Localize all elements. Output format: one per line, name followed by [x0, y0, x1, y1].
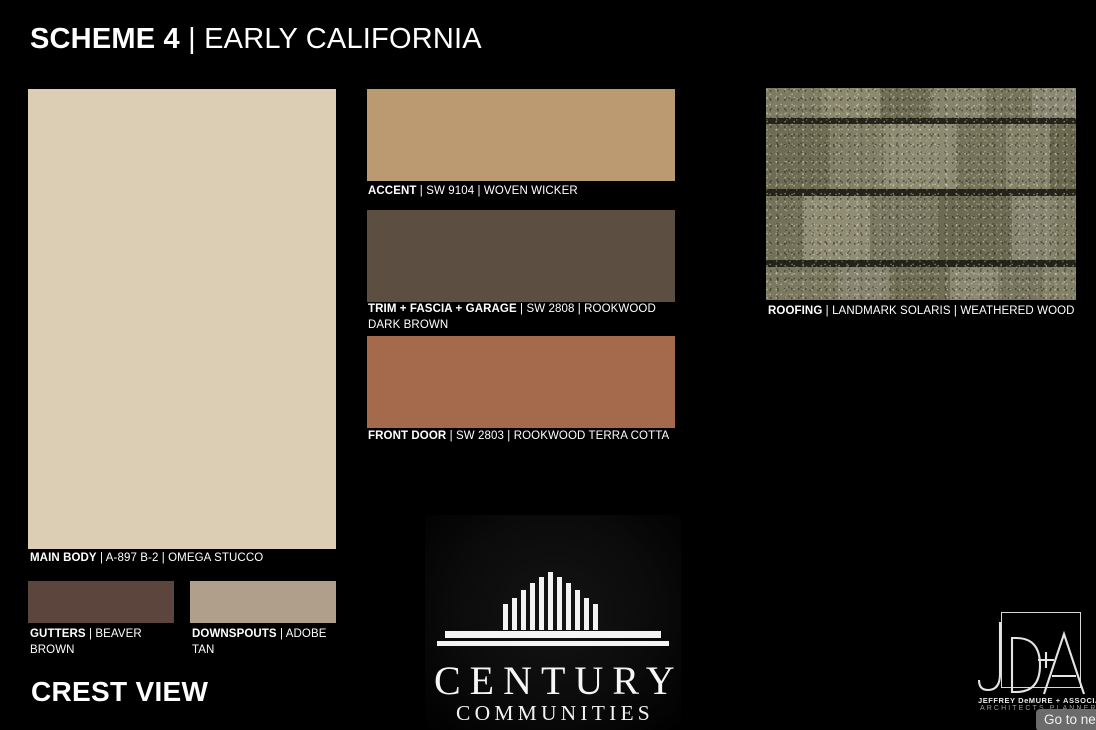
- roof-tab: [998, 267, 1042, 300]
- architect-logo: JEFFREY DeMURE + ASSOCIATES ARCHITECTS P…: [978, 612, 1090, 717]
- roof-tab: [1042, 267, 1076, 300]
- caption-trim-fascia-garage: TRIM + FASCIA + GARAGE | SW 2808 | ROOKW…: [368, 302, 674, 333]
- roof-tab: [890, 267, 950, 300]
- title-separator: |: [180, 23, 204, 55]
- swatch-gutters: [28, 581, 174, 623]
- caption-front-door-rest: | SW 2803 | ROOKWOOD TERRA COTTA: [446, 430, 669, 442]
- caption-main-body-name: MAIN BODY: [30, 552, 97, 564]
- caption-front-door: FRONT DOOR | SW 2803 | ROOKWOOD TERRA CO…: [368, 429, 698, 445]
- architect-logo-line1: JEFFREY DeMURE + ASSOCIATES: [978, 696, 1090, 705]
- roof-tab: [938, 196, 1012, 264]
- caption-roofing-rest: | LANDMARK SOLARIS | WEATHERED WOOD: [822, 305, 1074, 317]
- swatch-main-body: [28, 89, 336, 549]
- caption-gutters-name: GUTTERS: [30, 628, 86, 640]
- roof-tab: [804, 196, 870, 264]
- roof-tab: [830, 124, 884, 192]
- swatch-front-door: [367, 336, 675, 428]
- roof-tab: [766, 124, 830, 192]
- go-to-next-page-tooltip[interactable]: Go to ne: [1036, 709, 1096, 730]
- roof-tab: [1006, 124, 1050, 192]
- roof-course: [766, 267, 1076, 300]
- caption-accent-name: ACCENT: [368, 185, 417, 197]
- scheme-number-label: SCHEME 4: [30, 23, 180, 55]
- builder-logo-subtitle: COMMUNITIES: [425, 701, 681, 726]
- color-scheme-board: SCHEME 4 | EARLY CALIFORNIA MAIN BODY | …: [0, 0, 1096, 730]
- roof-tab: [870, 196, 938, 264]
- roof-tab: [766, 267, 838, 300]
- roof-course: [766, 196, 1076, 264]
- roof-tab: [880, 88, 930, 120]
- builder-logo-wordmark: CENTURY: [425, 657, 681, 704]
- swatch-trim-fascia-garage: [367, 210, 675, 302]
- roof-tab: [822, 88, 880, 120]
- roof-tab: [766, 196, 804, 264]
- caption-downspouts: DOWNSPOUTS | ADOBE TAN: [192, 627, 342, 658]
- roof-course: [766, 88, 1076, 120]
- swatch-downspouts: [190, 581, 336, 623]
- swatch-roofing-photo: [766, 88, 1076, 300]
- caption-main-body: MAIN BODY | A-897 B-2 | OMEGA STUCCO: [30, 551, 360, 567]
- roof-tab: [930, 88, 986, 120]
- builder-logo: CENTURY COMMUNITIES: [425, 515, 681, 730]
- scheme-name-label: EARLY CALIFORNIA: [204, 23, 482, 55]
- roof-tab: [956, 124, 1006, 192]
- roof-tab: [884, 124, 956, 192]
- plan-name-label: CREST VIEW: [31, 676, 208, 708]
- caption-accent: ACCENT | SW 9104 | WOVEN WICKER: [368, 184, 698, 200]
- roof-tab: [1032, 88, 1076, 120]
- roof-tab: [986, 88, 1032, 120]
- roof-tab: [1012, 196, 1054, 264]
- roof-tab: [838, 267, 890, 300]
- caption-roofing: ROOFING | LANDMARK SOLARIS | WEATHERED W…: [768, 304, 1088, 320]
- caption-main-body-rest: | A-897 B-2 | OMEGA STUCCO: [97, 552, 264, 564]
- caption-gutters: GUTTERS | BEAVER BROWN: [30, 627, 180, 658]
- building-spire-icon: [425, 570, 681, 652]
- roof-tab: [766, 88, 822, 120]
- caption-trim-name: TRIM + FASCIA + GARAGE: [368, 303, 517, 315]
- caption-accent-rest: | SW 9104 | WOVEN WICKER: [417, 185, 578, 197]
- swatch-accent: [367, 89, 675, 181]
- roof-tab: [1054, 196, 1076, 264]
- page-title: SCHEME 4 | EARLY CALIFORNIA: [30, 22, 482, 56]
- roof-tab: [950, 267, 998, 300]
- roof-tab: [1050, 124, 1076, 192]
- caption-roofing-name: ROOFING: [768, 305, 822, 317]
- roof-course: [766, 124, 1076, 192]
- caption-downspouts-name: DOWNSPOUTS: [192, 628, 277, 640]
- caption-front-door-name: FRONT DOOR: [368, 430, 446, 442]
- jda-monogram-icon: [978, 620, 1088, 698]
